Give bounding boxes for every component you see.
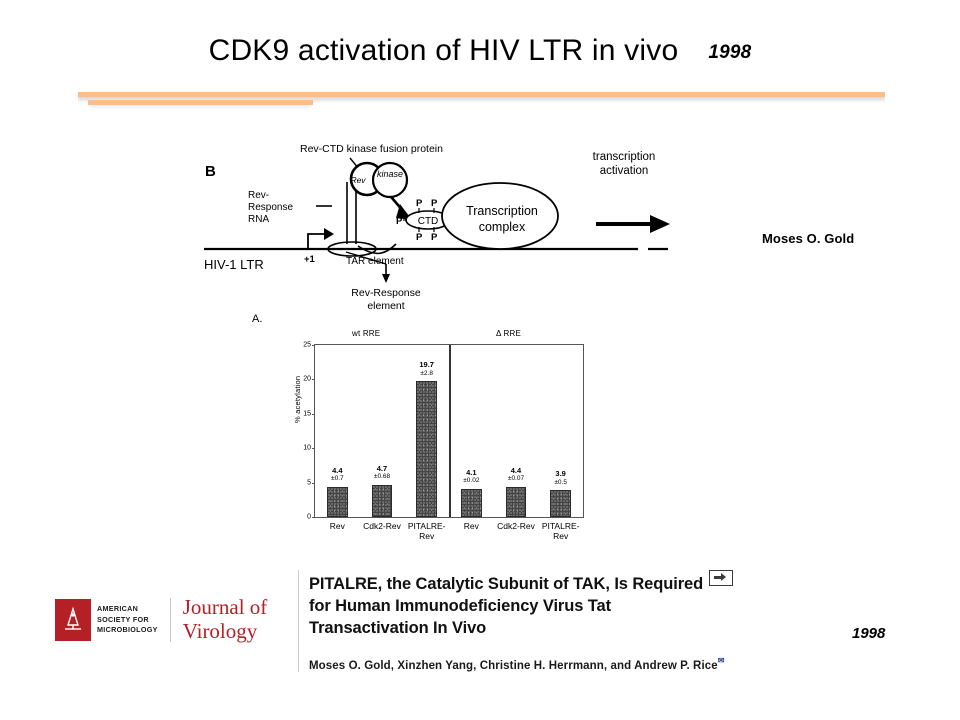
x-axis-tick-label-line: Cdk2-Rev [497, 522, 535, 532]
phosphate-bottom-right: P [431, 232, 438, 243]
bar-value: 4.4 [331, 467, 344, 476]
tss-arrowhead [324, 228, 334, 240]
y-axis-tick-label: 10 [303, 445, 311, 452]
bar-value: 3.9 [554, 470, 567, 479]
phosphate-top-right: P [431, 198, 438, 209]
x-axis-tick-label: Cdk2-Rev [497, 522, 535, 532]
y-axis-tick-label: 25 [303, 342, 311, 349]
bar-value-label: 4.4±0.07 [508, 467, 524, 483]
bar-value-label: 4.7±0.68 [374, 465, 390, 481]
transcription-complex-line1: Transcription [466, 204, 538, 218]
rev-response-rna-line1: Rev- [248, 190, 269, 201]
logo-divider [170, 598, 171, 642]
x-axis-tick-label: Rev [464, 522, 479, 532]
y-axis-title: % acetylation [293, 376, 302, 423]
transcription-complex-line2: complex [479, 220, 526, 234]
phosphate-top-left: P [416, 198, 423, 209]
x-axis-tick-label-line: Rev [408, 532, 446, 542]
bar-slot: 4.7±0.68Cdk2-Rev [360, 345, 405, 517]
figure-panel-b: B Rev-CTD kinase fusion protein Rev kina… [200, 136, 680, 314]
kinase-bubble-label: kinase [377, 169, 403, 179]
panel-b-label: B [205, 163, 216, 180]
journal-name-line1: Journal of [183, 596, 268, 620]
activation-arrowhead [650, 215, 670, 233]
phosphate-bottom-left: P [416, 232, 423, 243]
x-axis-tick-label-line: Rev [330, 522, 345, 532]
bar[interactable] [461, 489, 482, 517]
bar-error: ±0.7 [331, 475, 344, 482]
pathway-diagram: B Rev-CTD kinase fusion protein Rev kina… [200, 136, 680, 314]
tss-label: +1 [304, 254, 316, 265]
x-axis-tick-label: Rev [330, 522, 345, 532]
activation-label-line2: activation [600, 165, 649, 177]
paper-authors: Moses O. Gold, Xinzhen Yang, Christine H… [309, 656, 858, 672]
society-name-line1: AMERICAN [97, 604, 158, 614]
page-title: CDK9 activation of HIV LTR in vivo1998 [0, 34, 960, 68]
paper-title: PITALRE, the Catalytic Subunit of TAK, I… [309, 570, 858, 640]
paper-reference: PITALRE, the Catalytic Subunit of TAK, I… [298, 570, 858, 672]
hiv-ltr-label: HIV-1 LTR [204, 257, 264, 272]
bar-value: 4.4 [508, 467, 524, 476]
panel-a-label: A. [252, 313, 262, 325]
bar-value-label: 4.4±0.7 [331, 467, 344, 483]
rre-label-line2: element [367, 300, 404, 312]
bar[interactable] [506, 487, 527, 517]
x-axis-tick-label: PITALRE-Rev [408, 522, 446, 542]
x-axis-tick-label-line: Cdk2-Rev [363, 522, 401, 532]
corresponding-author-icon: ✉ [718, 656, 725, 665]
paper-title-line1: PITALRE, the Catalytic Subunit of TAK, I… [309, 575, 703, 593]
bar-slot: 19.7±2.8PITALRE-Rev [404, 345, 449, 517]
fusion-protein-caption: Rev-CTD kinase fusion protein [300, 143, 443, 155]
y-axis-tick-mark [312, 517, 315, 518]
rre-label-line1: Rev-Response [351, 287, 421, 299]
bar-value: 4.7 [374, 465, 390, 474]
bar-value-label: 19.7±2.8 [419, 361, 434, 377]
phosphate-left: P [396, 216, 403, 227]
x-axis-tick-label: Cdk2-Rev [363, 522, 401, 532]
paper-title-line3: Transactivation In Vivo [309, 619, 486, 637]
bar-error: ±0.68 [374, 473, 390, 480]
bar-value-label: 3.9±0.5 [554, 470, 567, 486]
journal-name-line2: Virology [183, 620, 268, 644]
chart-group-labels: wt RRE Δ RRE [314, 329, 584, 343]
bar-error: ±0.07 [508, 475, 524, 482]
bar-slot: 4.1±0.02Rev [449, 345, 494, 517]
bar[interactable] [550, 490, 571, 517]
y-axis-tick-label: 15 [303, 410, 311, 417]
paper-authors-text: Moses O. Gold, Xinzhen Yang, Christine H… [309, 660, 718, 672]
page-title-text: CDK9 activation of HIV LTR in vivo [209, 34, 679, 67]
y-axis-tick-label: 20 [303, 376, 311, 383]
rre-arrowhead [382, 274, 390, 283]
journal-name: Journal of Virology [183, 596, 268, 643]
divider-rule-bottom [88, 100, 313, 105]
page-title-year: 1998 [708, 42, 751, 63]
group-label-delta-rre: Δ RRE [496, 329, 521, 338]
microscope-icon [55, 599, 91, 641]
bar[interactable] [327, 487, 348, 517]
bar[interactable] [372, 485, 393, 517]
bar-error: ±0.02 [463, 477, 479, 484]
y-axis-tick-label: 5 [307, 479, 311, 486]
footer-year: 1998 [852, 625, 885, 642]
rev-response-rna-line2: Response [248, 202, 293, 213]
presenter-name: Moses O. Gold [762, 231, 854, 246]
society-name-line3: MICROBIOLOGY [97, 625, 158, 635]
x-axis-tick-label-line: Rev [464, 522, 479, 532]
society-name: AMERICAN SOCIETY FOR MICROBIOLOGY [97, 604, 158, 635]
bar[interactable] [416, 381, 437, 517]
x-axis-tick-label: PITALRE-Rev [542, 522, 580, 542]
bar-value: 19.7 [419, 361, 434, 370]
activation-label-line1: transcription [593, 151, 656, 163]
tar-element-label: TAR element [346, 256, 404, 267]
bar-slot: 3.9±0.5PITALRE-Rev [538, 345, 583, 517]
society-name-line2: SOCIETY FOR [97, 615, 158, 625]
y-axis-tick-label: 0 [307, 514, 311, 521]
x-axis-tick-label-line: Rev [542, 532, 580, 542]
rev-response-rna-line3: RNA [248, 214, 269, 225]
bar-value-label: 4.1±0.02 [463, 469, 479, 485]
ctd-label: CTD [418, 216, 439, 227]
rev-bubble-label: Rev [350, 175, 366, 185]
bar-slot: 4.4±0.07Cdk2-Rev [494, 345, 539, 517]
bar-chart-plot-area: % acetylation 0510152025 4.4±0.7Rev4.7±0… [314, 344, 584, 518]
figure-panel-a: A. wt RRE Δ RRE % acetylation 0510152025… [252, 313, 592, 553]
bar-slot: 4.4±0.7Rev [315, 345, 360, 517]
bar-error: ±2.8 [419, 370, 434, 377]
group-label-wt-rre: wt RRE [352, 329, 380, 338]
journal-logo: AMERICAN SOCIETY FOR MICROBIOLOGY Journa… [55, 592, 267, 648]
bar-value: 4.1 [463, 469, 479, 478]
arrow-right-icon[interactable] [709, 570, 733, 586]
bar-error: ±0.5 [554, 479, 567, 486]
paper-title-line2: for Human Immunodeficiency Virus Tat [309, 597, 611, 615]
divider-rule-top [78, 92, 885, 97]
